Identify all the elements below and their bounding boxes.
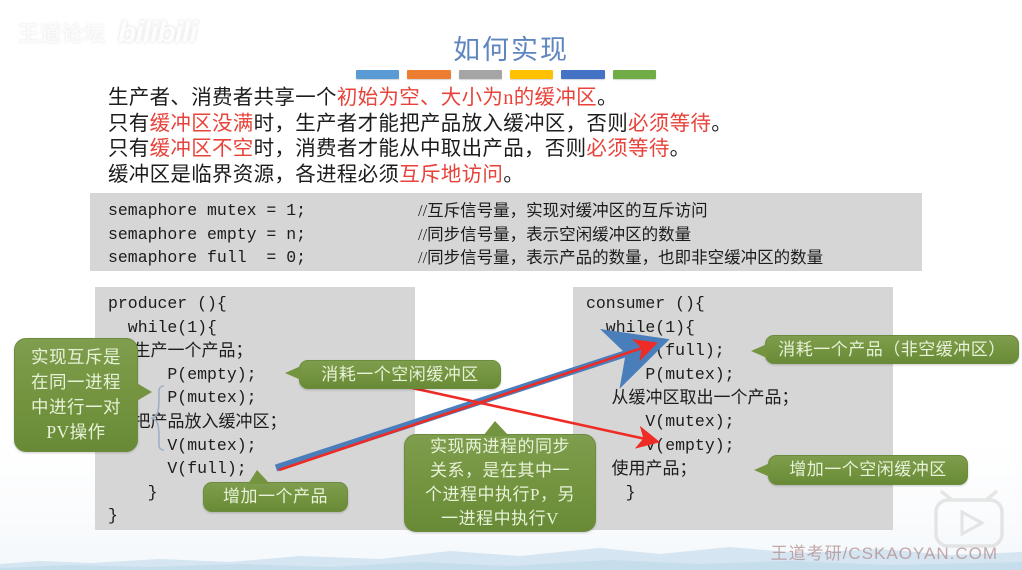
intro-text: 。 [597, 87, 618, 109]
intro-text: 时，消费者才能从中取出产品，否则 [254, 138, 587, 160]
bilibili-logo: bilibili [118, 16, 197, 50]
title-color-bars [356, 70, 656, 79]
title-bar-gray [459, 70, 502, 79]
semaphore-row: semaphore mutex = 1;//互斥信号量，实现对缓冲区的互斥访问 [108, 199, 823, 223]
callout-line: 中进行一对 [31, 395, 121, 420]
semaphore-declaration-panel: semaphore mutex = 1;//互斥信号量，实现对缓冲区的互斥访问s… [90, 193, 922, 271]
intro-highlight: 缓冲区没满 [150, 113, 254, 135]
consumer-code-line: consumer (){ [586, 292, 799, 316]
consumer-code-line: P(mutex); [586, 363, 799, 387]
semaphore-comment: //同步信号量，表示产品的数量，也即非空缓冲区的数量 [418, 246, 823, 270]
intro-line: 只有缓冲区不空时，消费者才能从中取出产品，否则必须等待。 [108, 137, 732, 163]
intro-text: 生产者、消费者共享一个 [108, 87, 337, 109]
consumer-code-panel: consumer (){ while(1){ P(full); P(mutex)… [573, 287, 893, 530]
title-bar-yellow [510, 70, 553, 79]
intro-line: 缓冲区是临界资源，各进程必须互斥地访问。 [108, 163, 732, 189]
intro-text: 只有 [108, 113, 150, 135]
semaphore-declaration: semaphore mutex = 1; [108, 199, 418, 223]
callout-tail [754, 463, 770, 477]
intro-text: 。 [503, 164, 524, 186]
callout-tail [248, 470, 270, 484]
title-bar-darkblue [561, 70, 604, 79]
title-bar-orange [407, 70, 450, 79]
callout-text: 增加一个空闲缓冲区 [789, 459, 947, 481]
callout-line: PV操作 [46, 420, 105, 445]
callout-tail [285, 366, 301, 380]
title-bar-blue [356, 70, 399, 79]
callout-text: 消耗一个空闲缓冲区 [321, 364, 479, 386]
callout-line: 关系，是在其中一 [430, 459, 570, 483]
callout-tail [751, 344, 767, 358]
slide-canvas: 王道论坛 bilibili 如何实现 生产者、消费者共享一个初始为空、大小为n的… [0, 0, 1022, 570]
consumer-code-line: } [586, 481, 799, 505]
callout-line: 实现两进程的同步 [430, 435, 570, 459]
watermark-top-left: 王道论坛 bilibili [18, 16, 197, 50]
semaphore-comment: //同步信号量，表示空闲缓冲区的数量 [418, 223, 691, 247]
semaphore-row: semaphore empty = n;//同步信号量，表示空闲缓冲区的数量 [108, 223, 823, 247]
consumer-code-line: 从缓冲区取出一个产品； [586, 386, 799, 410]
callout-tail [483, 421, 509, 436]
intro-highlight: 缓冲区不空 [150, 138, 254, 160]
callout-text: 消耗一个产品（非空缓冲区） [778, 339, 1006, 361]
callout-text: 增加一个产品 [223, 486, 328, 508]
intro-line: 只有缓冲区没满时，生产者才能把产品放入缓冲区，否则必须等待。 [108, 112, 732, 138]
intro-text: 。 [670, 138, 691, 160]
watermark-forum-label: 王道论坛 [18, 18, 106, 48]
mutex-pair-brace [150, 385, 166, 451]
callout-mutex-explanation: 实现互斥是 在同一进程 中进行一对 PV操作 [14, 338, 138, 452]
semaphore-declaration: semaphore empty = n; [108, 223, 418, 247]
producer-code-line: producer (){ [108, 292, 287, 316]
intro-text: 时，生产者才能把产品放入缓冲区，否则 [254, 113, 628, 135]
callout-sync-explanation: 实现两进程的同步 关系，是在其中一 个进程中执行P，另 一进程中执行V [404, 434, 596, 532]
watermark-bottom: 王道考研/CSKAOYAN.COM [771, 539, 998, 564]
intro-text: 。 [711, 113, 732, 135]
intro-text: 只有 [108, 138, 150, 160]
callout-line: 在同一进程 [31, 370, 121, 395]
semaphore-comment: //互斥信号量，实现对缓冲区的互斥访问 [418, 199, 708, 223]
callout-tail [135, 382, 152, 402]
callout-line: 个进程中执行P，另 [425, 483, 575, 507]
callout-consume-product: 消耗一个产品（非空缓冲区） [765, 335, 1019, 364]
consumer-code-line: V(mutex); [586, 410, 799, 434]
intro-highlight: 初始为空、大小为n的缓冲区 [337, 87, 597, 109]
semaphore-declaration: semaphore full = 0; [108, 246, 418, 270]
intro-highlight: 互斥地访问 [399, 164, 503, 186]
callout-consume-empty-buffer: 消耗一个空闲缓冲区 [299, 360, 501, 389]
callout-line: 一进程中执行V [441, 507, 559, 531]
intro-paragraph: 生产者、消费者共享一个初始为空、大小为n的缓冲区。只有缓冲区没满时，生产者才能把… [108, 86, 732, 188]
intro-text: 缓冲区是临界资源，各进程必须 [108, 164, 399, 186]
producer-code-line: while(1){ [108, 316, 287, 340]
consumer-code-line: while(1){ [586, 316, 799, 340]
callout-line: 实现互斥是 [31, 345, 121, 370]
semaphore-row: semaphore full = 0;//同步信号量，表示产品的数量，也即非空缓… [108, 246, 823, 270]
callout-add-product: 增加一个产品 [203, 482, 348, 512]
intro-line: 生产者、消费者共享一个初始为空、大小为n的缓冲区。 [108, 86, 732, 112]
consumer-code-line: V(empty); [586, 434, 799, 458]
callout-add-empty-buffer: 增加一个空闲缓冲区 [768, 455, 968, 485]
intro-highlight: 必须等待 [628, 113, 711, 135]
title-bar-green [613, 70, 656, 79]
intro-highlight: 必须等待 [586, 138, 669, 160]
